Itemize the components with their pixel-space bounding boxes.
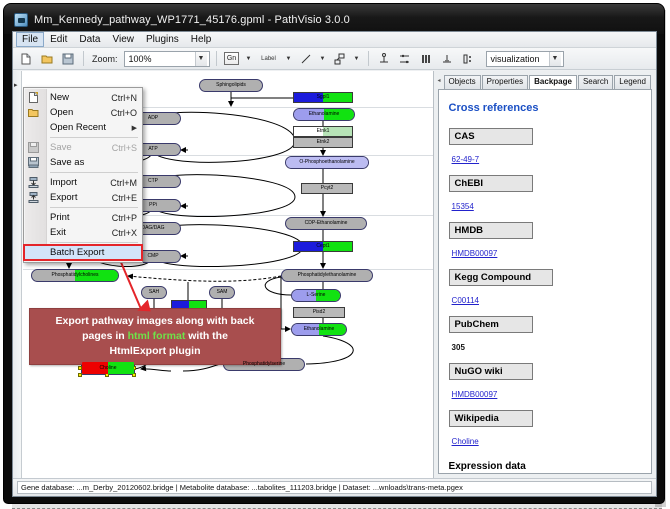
menu-item-import-accel: Ctrl+M xyxy=(110,178,137,188)
menu-item-import[interactable]: Import Ctrl+M xyxy=(24,175,142,190)
geneproduct-dropdown-icon[interactable]: ▼ xyxy=(244,51,254,67)
node-sgpl1[interactable]: Sgpl1 xyxy=(293,92,353,103)
main-toolbar: Zoom: 100% ▼ Gn ▼ Label ▼ ▼ ▼ xyxy=(13,48,656,70)
cross-references-heading: Cross references xyxy=(449,102,641,114)
node-sam[interactable]: SAM xyxy=(209,286,235,299)
toolbar-separator-2 xyxy=(216,51,217,66)
stack-tool-icon[interactable] xyxy=(417,50,435,68)
node-label: L-Serine xyxy=(307,293,326,298)
xref-header-hmdb: HMDB xyxy=(449,222,533,239)
node-sphingolipids[interactable]: Sphingolipids xyxy=(199,79,263,92)
node-pisd2[interactable]: Pisd2 xyxy=(293,307,345,318)
status-text: Gene database: ...m_Derby_20120602.bridg… xyxy=(17,481,652,494)
align-tool-icon[interactable] xyxy=(396,50,414,68)
xref-header-wikipedia: Wikipedia xyxy=(449,410,533,427)
menu-item-open-accel: Ctrl+O xyxy=(111,108,137,118)
node-ethanolamine-bottom[interactable]: Ethanolamine xyxy=(291,323,347,336)
node-label: Etnk2 xyxy=(317,140,330,145)
shape-tool-icon[interactable] xyxy=(331,50,349,68)
menu-bar: File Edit Data View Plugins Help xyxy=(13,32,656,48)
label-tool-text: Label xyxy=(261,56,276,62)
xref-link-chebi[interactable]: 15354 xyxy=(449,202,474,211)
node-label: Phosphatidylserine xyxy=(243,362,285,367)
save-icon xyxy=(28,142,39,153)
node-label: Etnk1 xyxy=(317,129,330,134)
window-title-bar: Mm_Kennedy_pathway_WP1771_45176.gpml - P… xyxy=(8,9,660,31)
menu-view[interactable]: View xyxy=(106,32,140,47)
xref-header-nugo: NuGO wiki xyxy=(449,363,533,380)
open-folder-icon[interactable] xyxy=(38,50,56,68)
selected-node-choline[interactable]: Choline xyxy=(81,361,135,375)
toolbar-separator xyxy=(83,51,84,66)
node-label: Pcyt2 xyxy=(321,186,334,191)
node-label: SAM xyxy=(217,290,228,295)
menu-item-batch-export[interactable]: Batch Export xyxy=(24,245,142,260)
chevron-down-icon-2[interactable]: ▼ xyxy=(549,52,561,66)
screenshot-root: Mm_Kennedy_pathway_WP1771_45176.gpml - P… xyxy=(0,0,670,509)
menu-separator xyxy=(50,137,138,138)
new-file-icon xyxy=(28,92,39,103)
menu-item-exit[interactable]: Exit Ctrl+X xyxy=(24,225,142,240)
node-label: Pisd2 xyxy=(313,310,326,315)
zoom-combobox[interactable]: 100% ▼ xyxy=(124,51,210,67)
menu-item-print[interactable]: Print Ctrl+P xyxy=(24,210,142,225)
xref-header-chebi: ChEBI xyxy=(449,175,533,192)
node-phosphatidylcholines[interactable]: Phosphatidylcholines xyxy=(31,269,119,282)
zoom-label: Zoom: xyxy=(92,54,118,64)
tab-properties[interactable]: Properties xyxy=(482,75,528,89)
menu-item-save-as-label: Save as xyxy=(50,157,137,168)
application-client-area: File Edit Data View Plugins Help Zoom: 1… xyxy=(12,31,657,497)
menu-item-export[interactable]: Export Ctrl+E xyxy=(24,190,142,205)
node-fill-right xyxy=(189,301,206,308)
xref-value-pubchem: 305 xyxy=(449,343,465,352)
chevron-down-icon[interactable]: ▼ xyxy=(195,52,207,66)
node-label: Phosphatidylcholines xyxy=(52,273,99,278)
visualization-combobox[interactable]: visualization ▼ xyxy=(486,51,564,67)
menu-item-import-label: Import xyxy=(50,177,110,188)
geneproduct-glyph: Gn xyxy=(224,52,239,65)
menu-item-open-label: Open xyxy=(50,107,111,118)
tab-objects[interactable]: Objects xyxy=(444,75,481,89)
menu-item-exit-accel: Ctrl+X xyxy=(112,228,137,238)
node-pemt[interactable] xyxy=(171,300,207,309)
menu-item-open-recent[interactable]: Open Recent ▶ xyxy=(24,120,142,135)
xref-header-cas: CAS xyxy=(449,128,533,145)
callout-line-1: Export pathway images along with back xyxy=(36,314,274,329)
toolbar-separator-3 xyxy=(368,51,369,66)
node-o-phosphoethanolamine[interactable]: O-Phosphoethanolamine xyxy=(285,156,369,169)
callout-highlight: html format xyxy=(128,330,186,342)
line-tool-icon[interactable] xyxy=(297,50,315,68)
submenu-arrow-icon: ▶ xyxy=(132,124,137,132)
geneproduct-tool-icon[interactable]: Gn xyxy=(223,50,241,68)
menu-item-new-accel: Ctrl+N xyxy=(111,93,137,103)
menu-plugins[interactable]: Plugins xyxy=(140,32,185,47)
menu-data[interactable]: Data xyxy=(73,32,106,47)
callout-line-2b: with the xyxy=(185,330,228,342)
menu-item-print-accel: Ctrl+P xyxy=(112,213,137,223)
menu-item-export-label: Export xyxy=(50,192,112,203)
node-label: O-Phosphoethanolamine xyxy=(299,160,354,165)
save-icon[interactable] xyxy=(59,50,77,68)
annotation-callout: Export pathway images along with back pa… xyxy=(29,308,281,365)
canvas-left-ruler xyxy=(13,71,22,478)
xref-header-pubchem: PubChem xyxy=(449,316,533,333)
menu-separator-4 xyxy=(50,242,138,243)
expression-data-heading: Expression data xyxy=(449,461,641,472)
zoom-value: 100% xyxy=(129,54,152,64)
node-label: Cept1 xyxy=(316,244,329,249)
save-as-icon xyxy=(28,157,39,168)
menu-item-export-accel: Ctrl+E xyxy=(112,193,137,203)
export-icon xyxy=(28,192,39,203)
xref-header-kegg: Kegg Compound xyxy=(449,269,553,286)
node-phosphatidylethanolamine[interactable]: Phosphatidylethanolamine xyxy=(281,269,373,282)
menu-item-save-accel: Ctrl+S xyxy=(112,143,137,153)
group-tool-icon[interactable] xyxy=(438,50,456,68)
menu-item-new[interactable]: New Ctrl+N xyxy=(24,90,142,105)
node-cdp-ethanolamine[interactable]: CDP-Ethanolamine xyxy=(285,217,367,230)
menu-separator-3 xyxy=(50,207,138,208)
node-label: Ethanolamine xyxy=(309,112,340,117)
menu-item-new-label: New xyxy=(50,92,111,103)
node-label: ADP xyxy=(148,116,158,121)
shape-dropdown-icon[interactable]: ▼ xyxy=(352,51,362,67)
xref-link-kegg[interactable]: C00114 xyxy=(449,296,479,305)
window-title: Mm_Kennedy_pathway_WP1771_45176.gpml - P… xyxy=(34,14,350,26)
menu-item-save-label: Save xyxy=(50,142,112,153)
node-label: Ethanolamine xyxy=(304,327,335,332)
callout-line-2: pages in html format with the xyxy=(36,329,274,344)
tab-backpage[interactable]: Backpage xyxy=(529,75,577,90)
anchor-tool-icon[interactable] xyxy=(375,50,393,68)
pathvisio-icon xyxy=(14,13,28,27)
node-label: DAG/DAG xyxy=(141,226,164,231)
file-menu-dropdown[interactable]: New Ctrl+N Open Ctrl+O Open Recent ▶ Sav… xyxy=(23,87,143,263)
node-etnk2[interactable]: Etnk2 xyxy=(293,137,353,148)
node-choline-selected[interactable]: Choline xyxy=(81,361,135,375)
node-cept1[interactable]: Cept1 xyxy=(293,241,353,252)
side-panel-tabs: Objects Properties Backpage Search Legen… xyxy=(438,74,652,89)
callout-line-3: HtmlExport plugin xyxy=(36,344,274,359)
node-label: CMP xyxy=(147,254,158,259)
folder-icon xyxy=(28,107,39,118)
node-fill-left xyxy=(172,301,189,308)
menu-item-exit-label: Exit xyxy=(50,227,112,238)
node-etnk1[interactable]: Etnk1 xyxy=(293,126,353,137)
tab-search[interactable]: Search xyxy=(578,75,613,89)
xref-link-hmdb[interactable]: HMDB00097 xyxy=(449,249,498,258)
visualization-value: visualization xyxy=(491,54,540,64)
node-label: Choline xyxy=(100,366,117,371)
callout-line-2a: pages in xyxy=(82,330,128,342)
node-label: Phosphatidylethanolamine xyxy=(298,273,357,278)
backpage-content: Cross references CAS 62-49-7 ChEBI 15354… xyxy=(438,89,652,474)
xref-link-nugo[interactable]: HMDB00097 xyxy=(449,390,498,399)
label-tool-icon[interactable]: Label xyxy=(257,50,281,68)
node-label: CTP xyxy=(148,179,158,184)
menu-separator-2 xyxy=(50,172,138,173)
node-ethanolamine-top[interactable]: Ethanolamine xyxy=(293,108,355,121)
menu-item-save[interactable]: Save Ctrl+S xyxy=(24,140,142,155)
node-label: ATP xyxy=(148,147,157,152)
node-pcyt2[interactable]: Pcyt2 xyxy=(301,183,353,194)
node-sah[interactable]: SAH xyxy=(141,286,167,299)
node-label: SAH xyxy=(149,290,159,295)
node-label: PPi xyxy=(149,203,157,208)
node-label: Sgpl1 xyxy=(317,95,330,100)
node-l-serine[interactable]: L-Serine xyxy=(291,289,341,302)
line-dropdown-icon[interactable]: ▼ xyxy=(318,51,328,67)
node-label: Sphingolipids xyxy=(216,83,246,88)
import-icon xyxy=(28,177,39,188)
label-dropdown-icon[interactable]: ▼ xyxy=(284,51,294,67)
new-file-icon[interactable] xyxy=(17,50,35,68)
menu-edit[interactable]: Edit xyxy=(44,32,73,47)
node-label: CDP-Ethanolamine xyxy=(305,221,348,226)
menu-item-print-label: Print xyxy=(50,212,112,223)
menu-item-open[interactable]: Open Ctrl+O xyxy=(24,105,142,120)
order-tool-icon[interactable] xyxy=(459,50,477,68)
menu-item-save-as[interactable]: Save as xyxy=(24,155,142,170)
side-panel: Objects Properties Backpage Search Legen… xyxy=(434,71,656,478)
menu-help[interactable]: Help xyxy=(185,32,218,47)
xref-link-cas[interactable]: 62-49-7 xyxy=(449,155,480,164)
status-bar: Gene database: ...m_Derby_20120602.bridg… xyxy=(13,478,656,496)
xref-link-wikipedia[interactable]: Choline xyxy=(449,437,479,446)
tab-legend[interactable]: Legend xyxy=(614,75,651,89)
menu-item-open-recent-label: Open Recent xyxy=(50,122,132,133)
menu-item-batch-export-label: Batch Export xyxy=(50,247,137,258)
menu-file[interactable]: File xyxy=(16,32,44,47)
